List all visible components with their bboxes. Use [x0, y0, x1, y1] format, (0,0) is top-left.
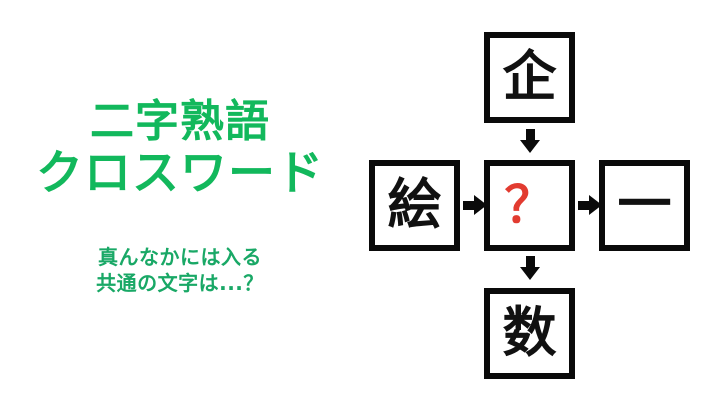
arrow-head — [520, 267, 540, 280]
subtitle-line-2: 共通の文字は...？ — [0, 270, 360, 296]
arrow-head — [474, 195, 487, 215]
kanji-char-left: 絵 — [388, 178, 442, 232]
title-line-2: クロスワード — [0, 147, 360, 202]
subtitle-line-1: 真んなかには入る — [0, 244, 360, 270]
puzzle-card: 二字熟語 クロスワード 真んなかには入る 共通の文字は...？ 企 絵 ？ 一 … — [0, 0, 720, 405]
question-mark-icon: ？ — [505, 180, 555, 230]
kanji-char-right: 一 — [618, 178, 672, 232]
arrow-down-icon-center-to-bottom — [520, 256, 540, 280]
arrow-head — [589, 195, 602, 215]
kanji-box-bottom[interactable]: 数 — [484, 288, 575, 379]
title-line-1: 二字熟語 — [0, 96, 360, 147]
arrow-down-icon-top-to-center — [520, 129, 540, 153]
kanji-box-center-answer[interactable]: ？ — [484, 160, 575, 251]
arrow-right-icon-center-to-right — [578, 195, 602, 215]
arrow-right-icon-left-to-center — [463, 195, 487, 215]
page-title: 二字熟語 クロスワード — [0, 96, 360, 202]
page-subtitle: 真んなかには入る 共通の文字は...？ — [0, 244, 360, 296]
kanji-box-top[interactable]: 企 — [484, 32, 575, 123]
kanji-box-right[interactable]: 一 — [599, 160, 690, 251]
kanji-cross-diagram: 企 絵 ？ 一 数 — [360, 0, 720, 405]
arrow-head — [520, 140, 540, 153]
kanji-char-bottom: 数 — [503, 306, 557, 360]
kanji-box-left[interactable]: 絵 — [369, 160, 460, 251]
kanji-char-top: 企 — [503, 50, 557, 104]
